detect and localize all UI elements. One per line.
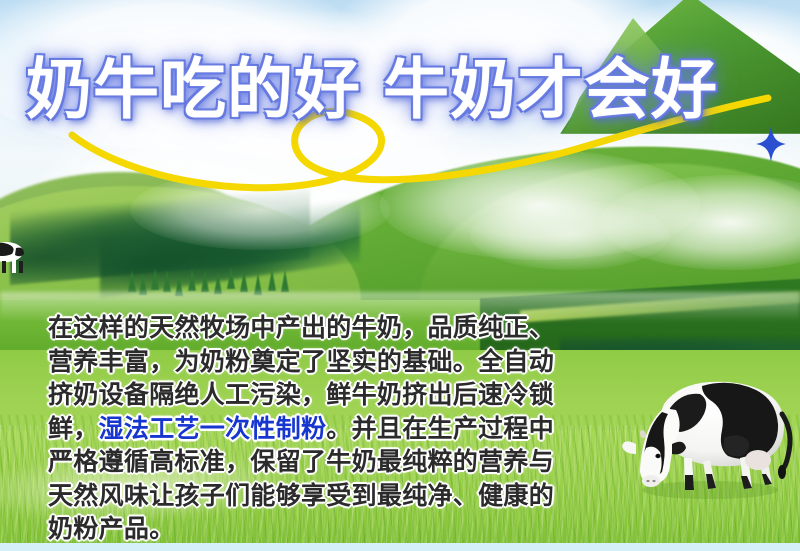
body-segment-highlight: 湿法工艺一次性制粉 (99, 414, 327, 443)
poster-headline: 奶牛吃的好牛奶才会好 (26, 50, 786, 130)
promo-poster: 奶牛吃的好牛奶才会好 在这样的天然牧场中产出的牛奶，品质纯正、营养丰富，为奶粉奠… (0, 0, 800, 551)
grazing-holstein-cow-illustration (606, 352, 800, 502)
body-paragraph: 在这样的天然牧场中产出的牛奶，品质纯正、营养丰富，为奶粉奠定了坚实的基础。全自动… (48, 311, 568, 546)
headline-part-2: 牛奶才会好 (383, 51, 718, 128)
bottom-accent-bar (0, 543, 800, 551)
distant-holstein-cow-icon (0, 236, 32, 278)
four-point-star-icon (756, 126, 786, 162)
headline-part-1: 奶牛吃的好 (26, 51, 361, 128)
conifer-tree-row (128, 252, 298, 292)
